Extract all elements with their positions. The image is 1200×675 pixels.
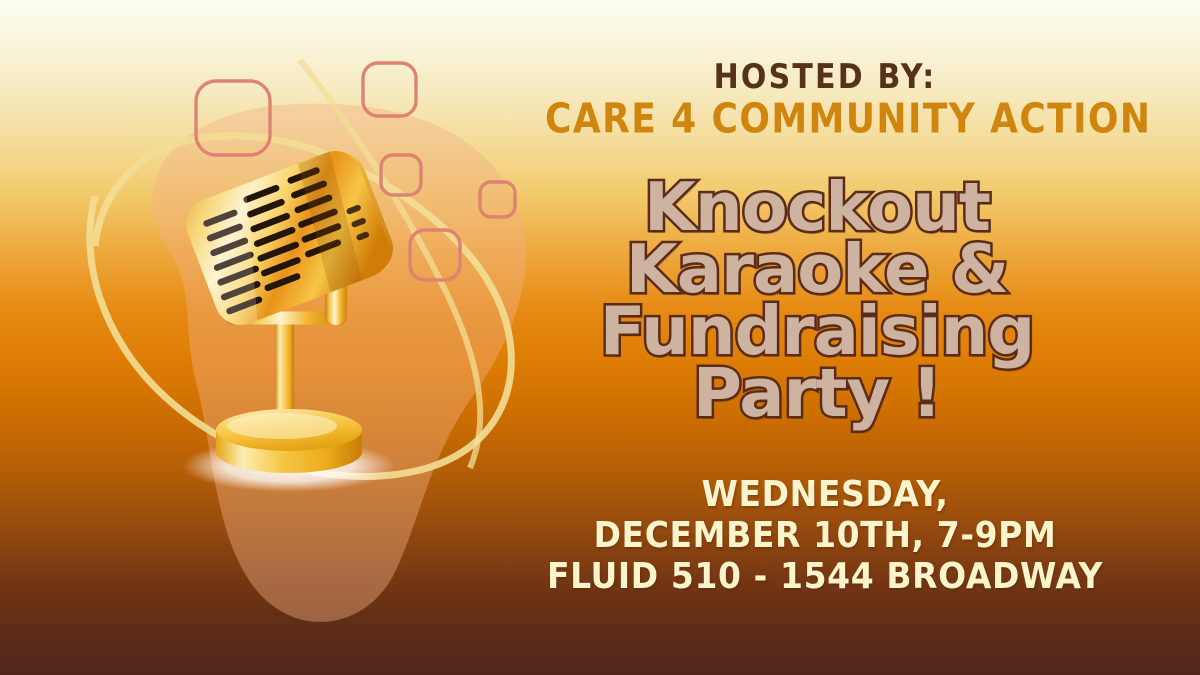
event-title: Knockout Karaoke & Fundraising Party ! [537,176,1097,424]
title-line-4: Party ! [537,362,1097,424]
title-line-2: Karaoke & [537,238,1097,300]
hosted-by-label: HOSTED BY: [545,58,1105,97]
title-line-3: Fundraising [537,300,1097,362]
title-line-1: Knockout [537,176,1097,238]
event-venue: FLUID 510 - 1544 BROADWAY [545,553,1105,597]
event-poster: HOSTED BY: CARE 4 COMMUNITY ACTION Knock… [0,0,1200,675]
mic-base-highlight [227,413,337,439]
poster-text-column: HOSTED BY: CARE 4 COMMUNITY ACTION Knock… [545,0,1105,675]
event-date-time: DECEMBER 10TH, 7-9PM [545,512,1105,556]
organization-name: CARE 4 COMMUNITY ACTION [545,96,1105,143]
event-details: WEDNESDAY, DECEMBER 10TH, 7-9PM FLUID 51… [545,473,1105,596]
event-day: WEDNESDAY, [545,471,1105,515]
